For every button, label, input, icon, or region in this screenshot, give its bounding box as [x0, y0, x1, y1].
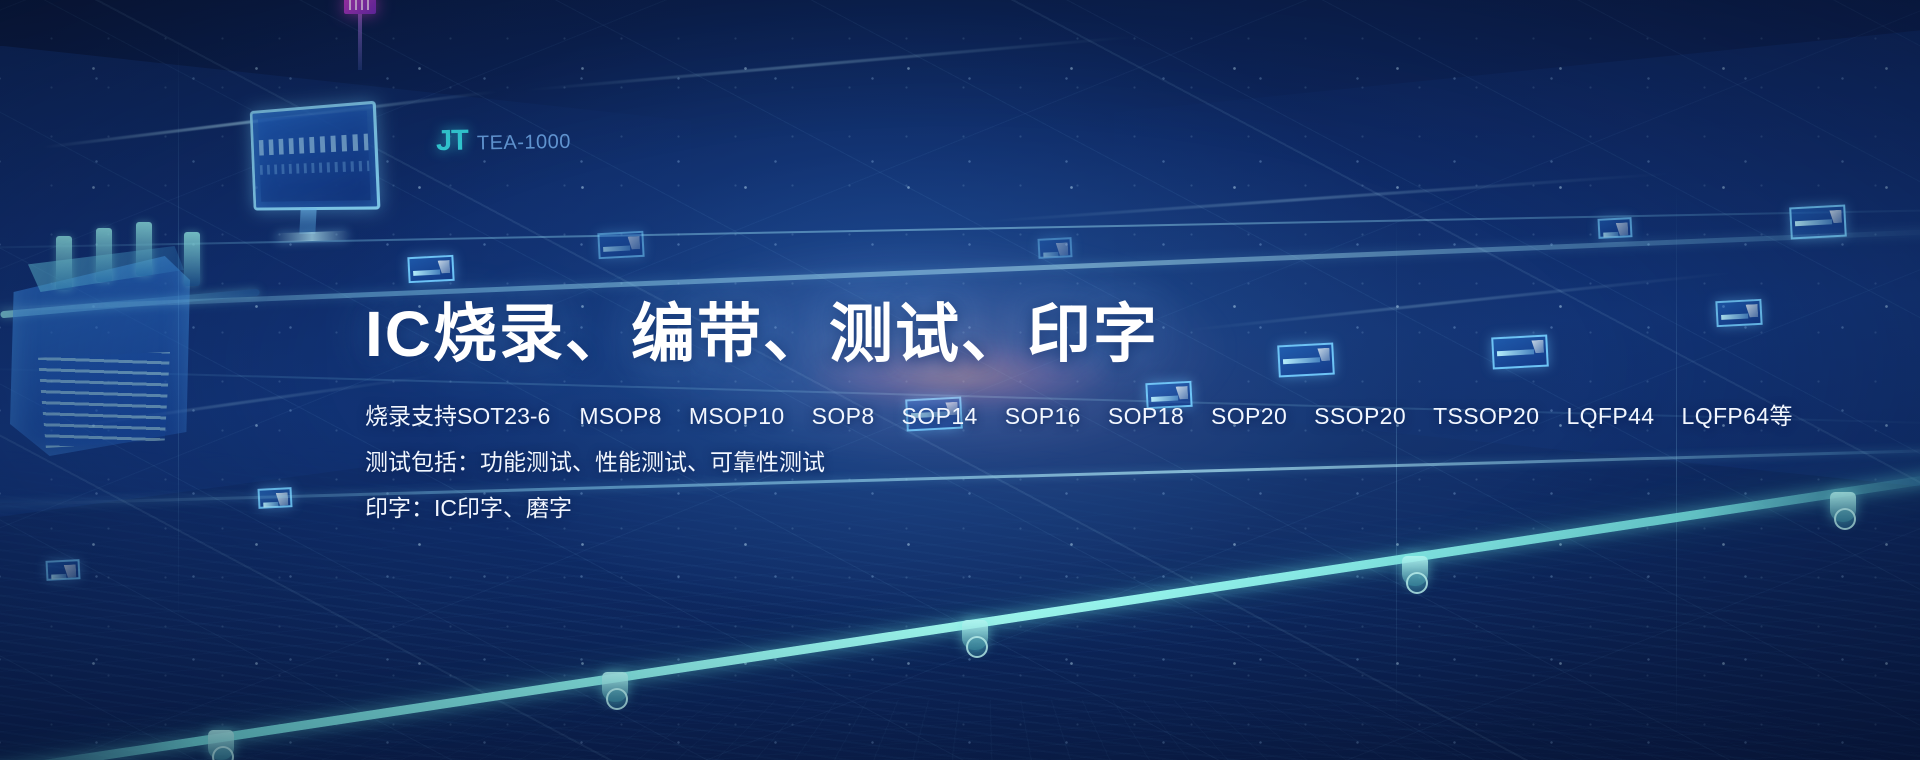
- monitor-stand: [299, 208, 316, 234]
- ic-service-banner: JT TEA-1000 IC烧录、编带、测试、印字 烧录支持SOT23-6 MS…: [0, 0, 1920, 760]
- equipment-logo: JT TEA-1000: [436, 123, 571, 158]
- packages-line: 烧录支持SOT23-6 MSOP8 MSOP10 SOP8 SOP14 SOP1…: [365, 405, 1793, 428]
- machine-fins: [38, 352, 170, 448]
- package-type-ssop20: SSOP20: [1314, 405, 1406, 428]
- banner-headline: IC烧录、编带、测试、印字: [365, 300, 1793, 369]
- operator-monitor: [250, 101, 381, 211]
- package-type-sop20: SOP20: [1211, 405, 1287, 428]
- package-type-sop8: SOP8: [812, 405, 875, 428]
- conveyor-roller-1: [208, 730, 234, 760]
- machine-actuator-2: [96, 228, 112, 282]
- packages-lead-label: 烧录支持SOT23-6: [365, 405, 550, 428]
- banner-detail-list: 烧录支持SOT23-6 MSOP8 MSOP10 SOP8 SOP14 SOP1…: [365, 405, 1793, 520]
- package-type-sop16: SOP16: [1005, 405, 1081, 428]
- package-type-msop10: MSOP10: [689, 405, 785, 428]
- marking-line: 印字：IC印字、磨字: [365, 497, 1793, 520]
- package-type-lqfp44: LQFP44: [1566, 405, 1654, 428]
- conveyor-roller-3: [962, 620, 988, 650]
- equipment-model-text: TEA-1000: [477, 131, 571, 156]
- package-type-msop8: MSOP8: [579, 405, 662, 428]
- monitor-screen-content: [258, 111, 371, 202]
- package-type-lqfp64: LQFP64等: [1682, 405, 1793, 428]
- package-type-sop18: SOP18: [1108, 405, 1184, 428]
- machine-actuator-3: [136, 222, 152, 276]
- machine-actuator-4: [184, 232, 200, 286]
- equipment-brand-text: JT: [436, 125, 468, 159]
- package-type-sop14: SOP14: [902, 405, 978, 428]
- package-type-tssop20: TSSOP20: [1433, 405, 1539, 428]
- conveyor-roller-5: [1830, 492, 1856, 522]
- machine-actuator-1: [56, 236, 72, 290]
- floating-panel-icon-4: [45, 559, 80, 581]
- banner-content: IC烧录、编带、测试、印字 烧录支持SOT23-6 MSOP8 MSOP10 S…: [365, 300, 1793, 543]
- conveyor-roller-2: [602, 672, 628, 702]
- floating-panel-icon-2: [407, 255, 454, 283]
- status-indicator-magenta: [344, 0, 376, 14]
- floating-panel-icon-11: [1597, 217, 1632, 239]
- testing-line: 测试包括：功能测试、性能测试、可靠性测试: [365, 451, 1793, 474]
- conveyor-roller-4: [1402, 556, 1428, 586]
